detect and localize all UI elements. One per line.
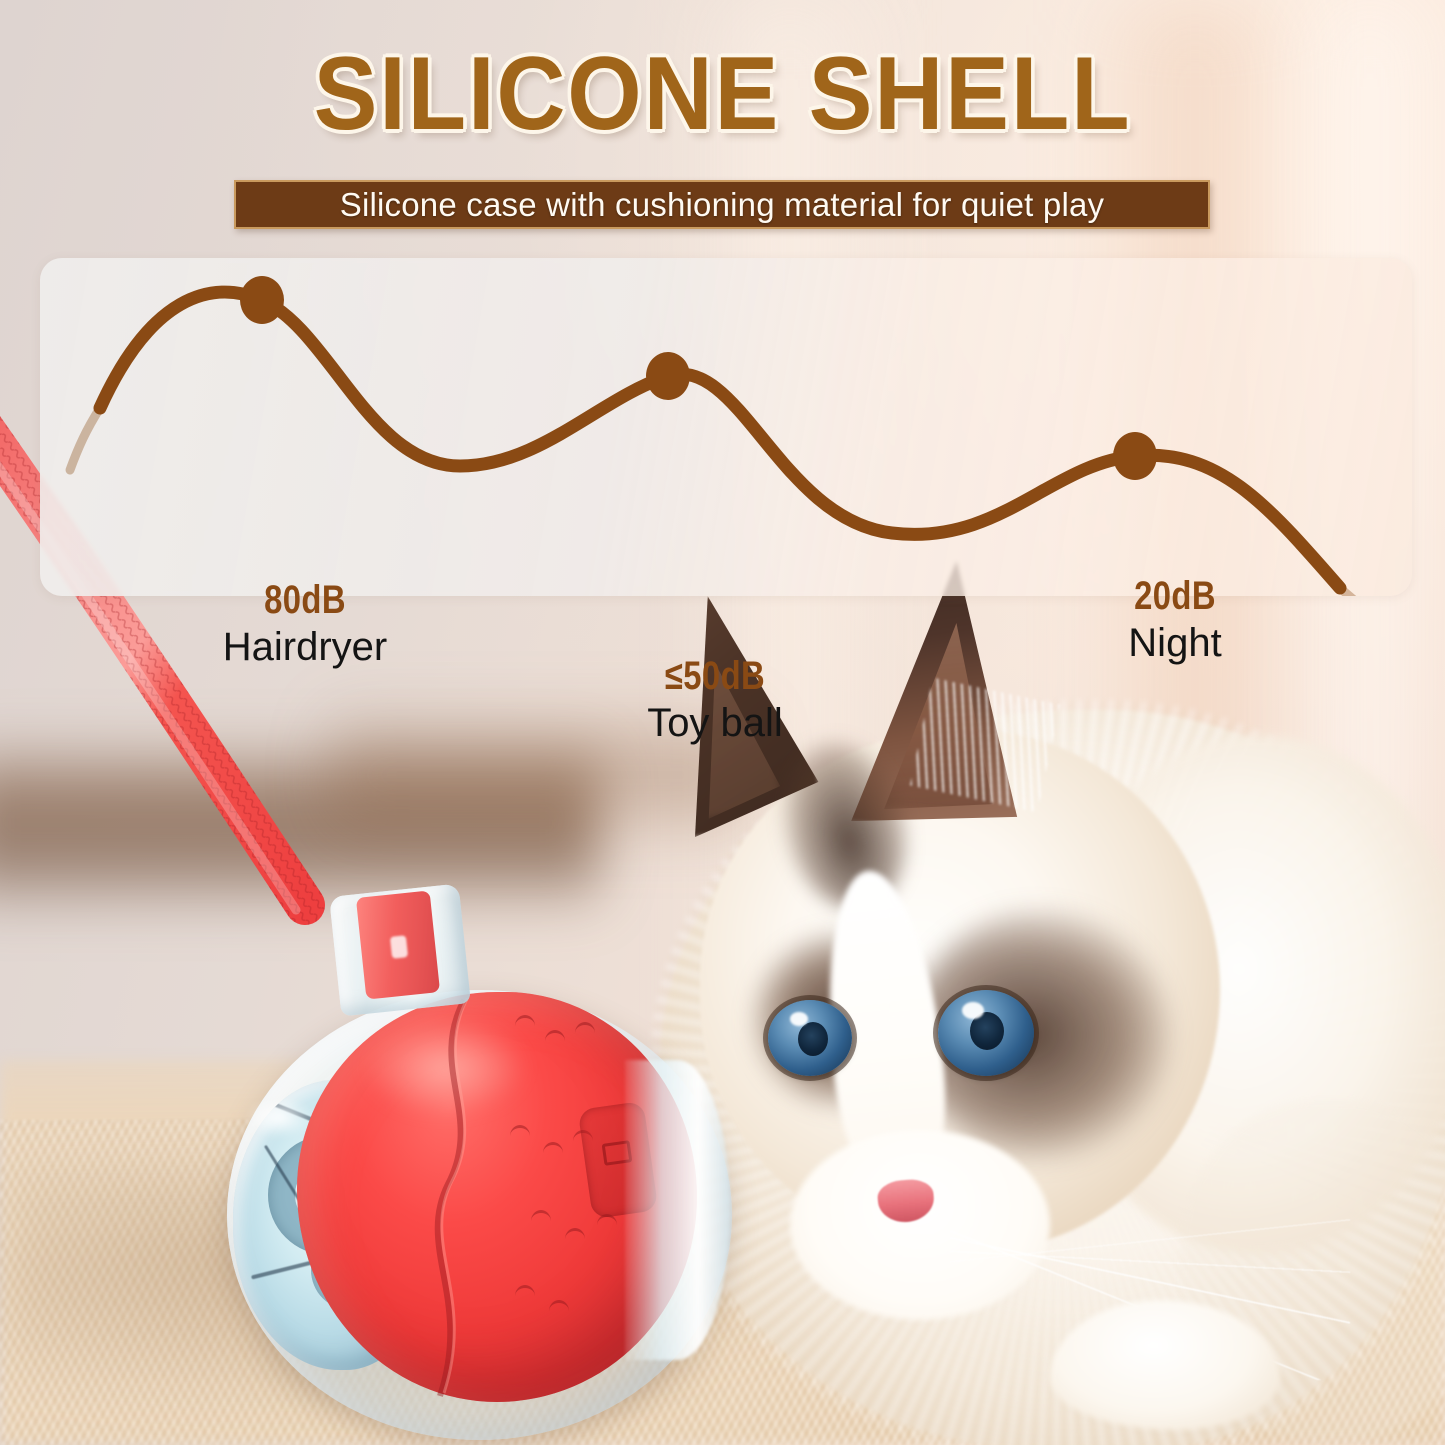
wave-marker-hairdryer bbox=[240, 276, 284, 324]
product-marketing-image: 80dB Hairdryer ≤50dB Toy ball 20dB Night… bbox=[0, 0, 1445, 1445]
noise-comparison-card: 80dB Hairdryer ≤50dB Toy ball 20dB Night bbox=[40, 258, 1412, 596]
cat-left-eye-glint bbox=[790, 1012, 808, 1026]
chart-label-hairdryer: 80dB Hairdryer bbox=[170, 580, 440, 670]
chart-value-toyball: ≤50dB bbox=[604, 656, 825, 696]
wave-marker-night bbox=[1113, 432, 1157, 480]
ball-right-clear-rim bbox=[625, 1060, 730, 1360]
chart-name-night: Night bbox=[1040, 620, 1310, 666]
ball-silicone-seam bbox=[410, 998, 500, 1398]
cat-left-pupil bbox=[798, 1022, 828, 1056]
noise-level-wave-chart bbox=[40, 258, 1412, 596]
chart-name-toyball: Toy ball bbox=[580, 700, 850, 746]
chart-label-toyball: ≤50dB Toy ball bbox=[580, 656, 850, 746]
interactive-cat-ball-toy[interactable] bbox=[215, 880, 760, 1440]
chart-name-hairdryer: Hairdryer bbox=[170, 624, 440, 670]
ball-connector-highlight bbox=[390, 935, 408, 959]
subtitle-banner: Silicone case with cushioning material f… bbox=[234, 180, 1210, 229]
wave-marker-toyball bbox=[646, 352, 690, 400]
subtitle-text: Silicone case with cushioning material f… bbox=[340, 186, 1105, 224]
chart-value-night: 20dB bbox=[1064, 576, 1285, 616]
chart-label-night: 20dB Night bbox=[1040, 576, 1310, 666]
noise-wave-line bbox=[100, 292, 1340, 588]
page-title: SILICONE SHELL bbox=[58, 42, 1387, 146]
chart-value-hairdryer: 80dB bbox=[194, 580, 415, 620]
cat-right-eye-glint bbox=[962, 1002, 984, 1019]
